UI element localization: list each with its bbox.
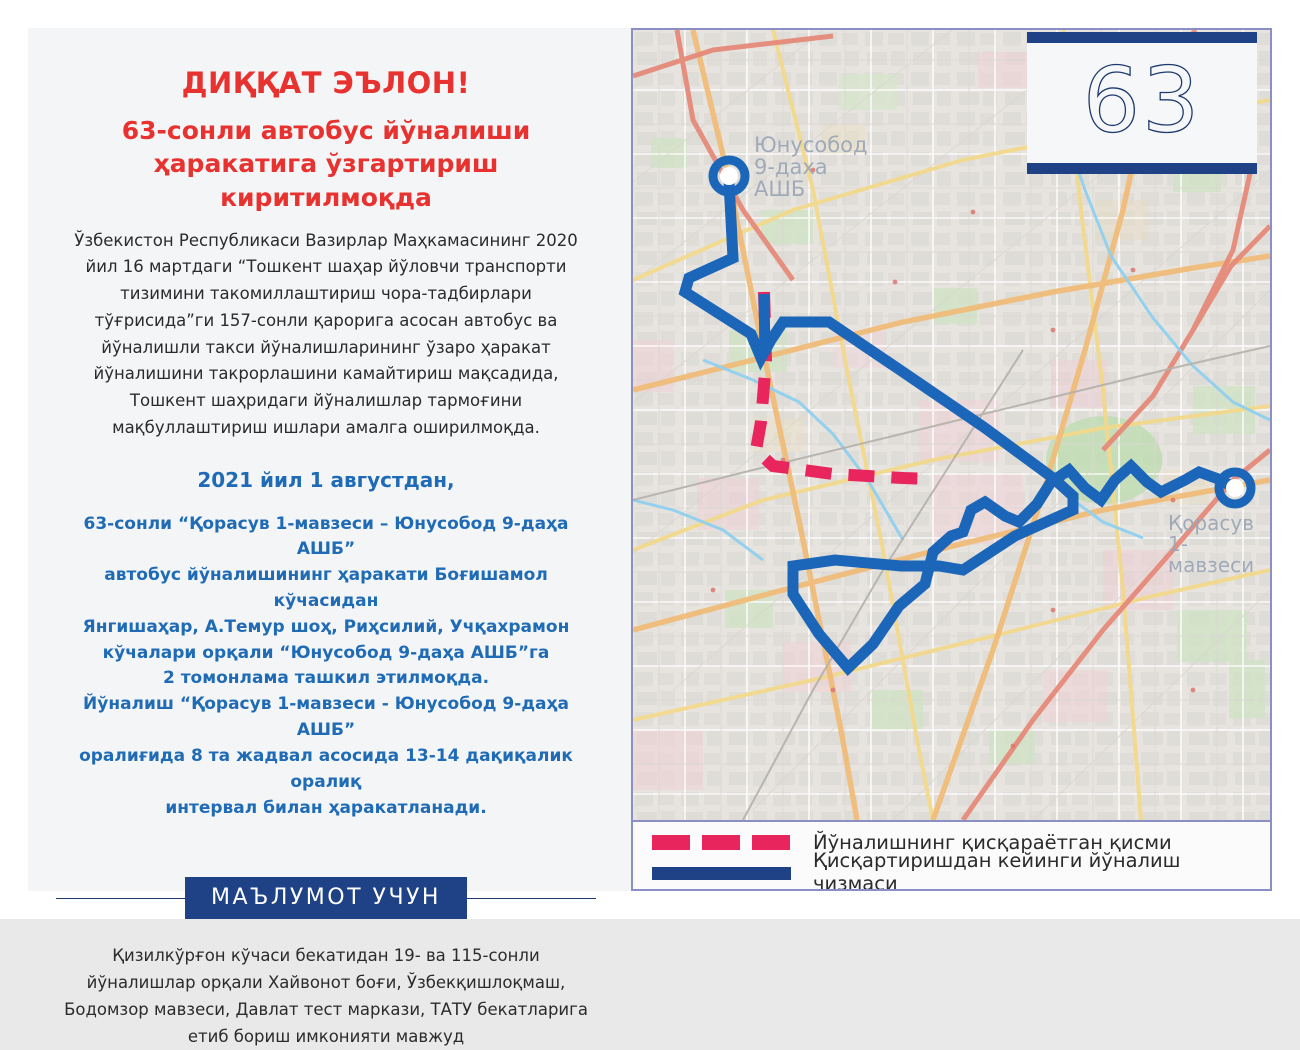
map-panel[interactable]: Юнусобод 9-даха АШБ Қорасув 1-мавзеси 63… [631,28,1272,891]
subtitle-line-1: 63-сонли автобус йўналиши [56,114,596,147]
effective-date: 2021 йил 1 августдан, [56,468,596,492]
poster-card: ДИҚҚАТ ЭЪЛОН! 63-сонли автобус йўналиши … [0,0,1300,919]
route-change-description: 63-сонли “Қорасув 1-мавзеси – Юнусобод 9… [56,512,596,822]
route-line-8: интервал билан ҳаракатланади. [56,796,596,822]
route-line-5: 2 томонлама ташкил этилмоқда. [56,666,596,692]
subtitle-line-2: ҳаракатига ўзгартириш [56,147,596,180]
map-legend: Йўналишнинг қисқараётган қисми Қисқартир… [633,820,1270,889]
route-line-4: кўчалари орқали “Юнусобод 9-даҳа АШБ”га [56,641,596,667]
legend-swatch-dashed [652,835,792,850]
page-title: ДИҚҚАТ ЭЪЛОН! [56,66,596,100]
info-banner: МАЪЛУМОТ УЧУН [185,877,467,919]
footer-paragraph: Қизилкўрғон кўчаси бекатидан 19- ва 115-… [60,943,592,1050]
route-number: 63 [1083,56,1202,146]
legend-label-new: Қисқартиришдан кейинги йўналиш чизмаси [813,849,1270,891]
subtitle: 63-сонли автобус йўналиши ҳаракатига ўзг… [56,114,596,214]
route-line-3: Янгишаҳар, А.Темур шоҳ, Риҳсилий, Учқахр… [56,615,596,641]
subtitle-line-3: киритилмоқда [56,181,596,214]
route-line-2: автобус йўналишининг ҳаракати Боғишамол … [56,563,596,615]
route-line-1: 63-сонли “Қорасув 1-мавзеси – Юнусобод 9… [56,512,596,564]
route-line-6: Йўналиш “Қорасув 1-мавзеси - Юнусобод 9-… [56,692,596,744]
legend-row-new: Қисқартиришдан кейинги йўналиш чизмаси [633,858,1270,886]
intro-paragraph: Ўзбекистон Республикаси Вазирлар Маҳкама… [60,228,592,442]
info-banner-section: МАЪЛУМОТ УЧУН [56,877,596,921]
route-line-7: оралиғида 8 та жадвал асосида 13-14 дақи… [56,744,596,796]
info-column: ДИҚҚАТ ЭЪЛОН! 63-сонли автобус йўналиши … [28,28,624,891]
route-number-badge: 63 [1027,32,1257,174]
legend-swatch-solid [652,865,792,880]
